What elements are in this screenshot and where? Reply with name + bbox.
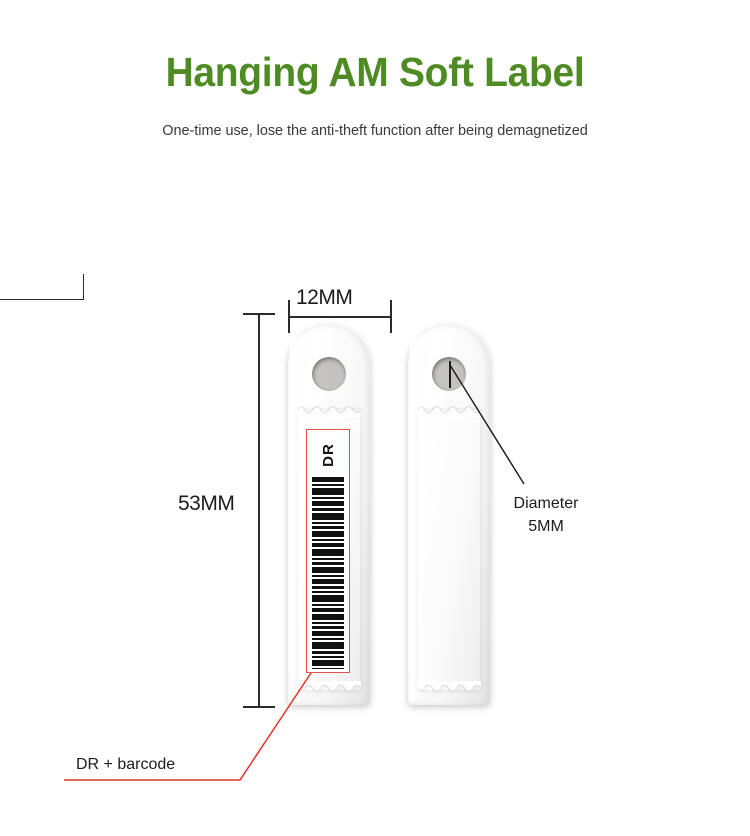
display-niche bbox=[672, 266, 708, 322]
tag-inner-panel bbox=[417, 409, 481, 691]
height-dimension-tick-top bbox=[243, 313, 275, 315]
hole-diameter-label: Diameter 5MM bbox=[504, 492, 588, 538]
hole-diameter-label-line1: Diameter bbox=[504, 492, 588, 515]
panel-wave-top bbox=[417, 404, 481, 417]
width-dimension-label: 12MM bbox=[296, 286, 352, 310]
panel-wave-bottom bbox=[297, 681, 361, 694]
coral-decor bbox=[172, 264, 204, 294]
height-dimension-line bbox=[258, 313, 260, 708]
page-title: Hanging AM Soft Label bbox=[19, 48, 732, 96]
showroom-photo bbox=[0, 178, 750, 430]
panel-wave-top bbox=[297, 404, 361, 417]
display-niche bbox=[440, 206, 466, 240]
barcode-bars bbox=[312, 477, 344, 667]
panel-wave-bottom bbox=[417, 681, 481, 694]
width-dimension-tick-right bbox=[390, 300, 392, 333]
glass-display-case bbox=[0, 368, 112, 418]
product-tag-front: DR bbox=[288, 325, 370, 705]
height-dimension-label: 53MM bbox=[178, 492, 234, 516]
display-niche bbox=[440, 244, 466, 278]
width-dimension-leader-tick bbox=[83, 274, 84, 300]
plant bbox=[25, 270, 43, 286]
barcode-prefix-text: DR bbox=[319, 433, 339, 483]
barcode-callout-label: DR + barcode bbox=[76, 756, 175, 774]
height-dimension-tick-bottom bbox=[243, 706, 275, 708]
width-dimension-tick-left bbox=[288, 300, 290, 333]
vase bbox=[178, 290, 198, 328]
barcode-area: DR bbox=[306, 429, 350, 673]
vase bbox=[24, 282, 44, 328]
infographic-root: Hanging AM Soft Label One-time use, lose… bbox=[0, 0, 750, 836]
width-dimension-leader bbox=[0, 299, 84, 300]
width-dimension-line bbox=[288, 316, 392, 318]
hanging-hole bbox=[312, 357, 346, 391]
page-subtitle: One-time use, lose the anti-theft functi… bbox=[0, 120, 750, 142]
product-tag-back bbox=[408, 325, 490, 705]
jewelry-bust bbox=[604, 308, 626, 334]
hole-diameter-label-line2: 5MM bbox=[504, 515, 588, 538]
jewelry-item bbox=[100, 318, 121, 335]
showroom-photo-content bbox=[0, 178, 750, 430]
barcode-inner: DR bbox=[310, 433, 346, 669]
jewelry-bust bbox=[580, 306, 602, 334]
diameter-tick bbox=[449, 361, 451, 388]
display-niche bbox=[714, 250, 748, 312]
display-niche bbox=[190, 216, 244, 266]
